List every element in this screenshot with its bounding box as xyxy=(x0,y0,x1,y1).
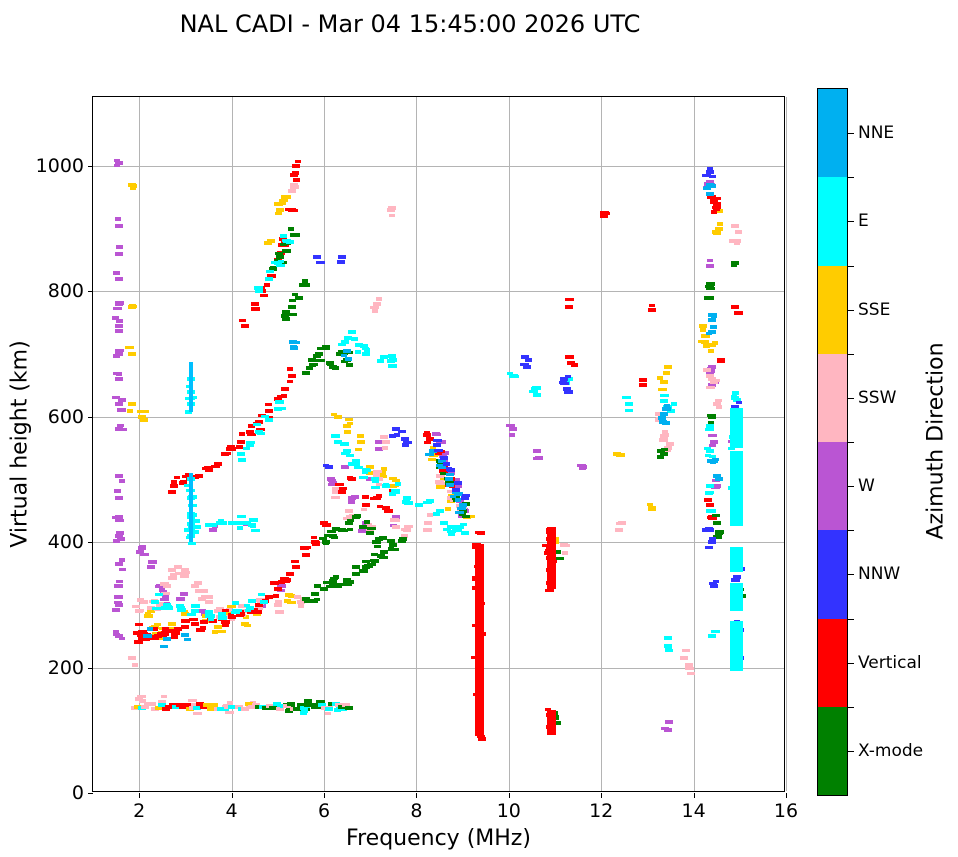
echo-point xyxy=(705,527,713,530)
echo-point xyxy=(443,462,450,466)
echo-point xyxy=(114,584,121,588)
echo-point xyxy=(119,568,126,571)
echo-point xyxy=(428,458,436,461)
echo-point xyxy=(251,307,260,311)
echo-point xyxy=(222,624,229,627)
echo-point xyxy=(393,548,399,551)
echo-point xyxy=(533,449,541,453)
echo-point xyxy=(389,214,395,217)
echo-point xyxy=(180,574,189,578)
echo-point xyxy=(703,368,711,372)
echo-point xyxy=(316,261,325,264)
echo-point xyxy=(115,252,123,256)
echo-point xyxy=(347,476,353,480)
ionogram-plot-area: 24681012141602004006008001000 xyxy=(92,96,785,792)
y-axis-tick-label: 400 xyxy=(48,531,84,553)
echo-point xyxy=(401,528,408,531)
echo-point xyxy=(293,178,300,182)
echo-point xyxy=(709,582,717,585)
echo-point xyxy=(115,324,123,328)
echo-point xyxy=(713,208,720,211)
echo-point xyxy=(730,451,743,457)
echo-point xyxy=(313,354,321,358)
echo-point xyxy=(533,393,541,397)
echo-point xyxy=(661,727,669,730)
echo-point xyxy=(372,309,378,313)
echo-point xyxy=(709,444,716,447)
echo-point xyxy=(295,160,301,163)
echo-point xyxy=(249,518,258,522)
echo-point xyxy=(457,507,466,510)
echo-point xyxy=(664,644,672,648)
echo-point xyxy=(251,529,260,532)
echo-point xyxy=(331,496,340,499)
echo-point xyxy=(344,336,352,340)
echo-point xyxy=(531,387,539,390)
colorbar-label-e: E xyxy=(858,211,869,231)
x-axis-tick xyxy=(601,793,602,798)
echo-point xyxy=(547,527,556,533)
y-axis-tick xyxy=(88,542,93,543)
echo-point xyxy=(380,435,388,439)
echo-point xyxy=(253,423,261,426)
echo-point xyxy=(209,528,217,532)
echo-point xyxy=(424,521,432,525)
echo-point xyxy=(436,464,443,467)
echo-point xyxy=(640,383,647,386)
echo-point xyxy=(616,522,622,525)
echo-point xyxy=(282,195,291,199)
echo-point xyxy=(189,618,198,621)
x-axis-tick xyxy=(509,793,510,798)
echo-point xyxy=(180,592,188,596)
echo-point xyxy=(389,434,396,438)
echo-point xyxy=(341,354,347,357)
echo-point xyxy=(664,636,672,640)
echo-point xyxy=(332,366,339,370)
echo-point xyxy=(362,352,370,356)
echo-point xyxy=(666,442,674,446)
echo-point xyxy=(446,473,454,476)
colorbar-title: Azimuth Direction xyxy=(924,342,949,539)
echo-point xyxy=(712,341,718,345)
echo-point xyxy=(256,610,262,614)
echo-point xyxy=(647,503,653,506)
echo-point xyxy=(388,206,396,210)
echo-point xyxy=(113,307,122,310)
echo-point xyxy=(337,260,345,264)
echo-scatter-layer xyxy=(93,97,784,791)
x-axis-tick-label: 12 xyxy=(589,800,613,822)
echo-point xyxy=(698,340,705,343)
echo-point xyxy=(117,408,126,412)
echo-point xyxy=(115,474,123,478)
echo-point xyxy=(361,508,367,511)
echo-point xyxy=(565,305,573,309)
echo-point xyxy=(237,515,246,518)
echo-point xyxy=(462,494,470,497)
echo-point xyxy=(648,308,656,312)
echo-point xyxy=(137,598,144,602)
echo-point xyxy=(660,380,668,384)
echo-point xyxy=(326,585,335,588)
echo-point xyxy=(717,222,723,226)
echo-point xyxy=(291,560,299,563)
echo-point xyxy=(455,498,461,502)
echo-point xyxy=(639,378,647,382)
y-axis-tick-label: 200 xyxy=(48,657,84,679)
echo-point xyxy=(382,446,388,450)
echo-point xyxy=(247,611,256,614)
colorbar-label-sse: SSE xyxy=(858,300,890,320)
echo-point xyxy=(415,503,423,507)
echo-point xyxy=(292,565,300,569)
echo-point xyxy=(117,537,125,541)
echo-point xyxy=(245,609,251,612)
echo-point xyxy=(338,343,346,346)
echo-point xyxy=(232,601,239,605)
echo-point xyxy=(535,456,543,460)
echo-point xyxy=(433,439,442,442)
echo-point xyxy=(227,445,235,449)
echo-point xyxy=(427,513,433,517)
echo-point xyxy=(706,264,714,268)
echo-point xyxy=(345,509,353,513)
echo-point xyxy=(648,508,656,511)
echo-point xyxy=(736,401,742,404)
echo-point xyxy=(236,445,243,449)
echo-point xyxy=(710,460,716,464)
echo-point xyxy=(115,402,123,406)
echo-point xyxy=(560,380,566,384)
echo-point xyxy=(308,358,316,362)
echo-point xyxy=(128,402,136,406)
echo-point xyxy=(286,572,294,576)
colorbar-label-nnw: NNW xyxy=(858,564,900,584)
echo-point xyxy=(181,625,189,629)
echo-point xyxy=(665,720,673,724)
echo-point xyxy=(529,390,538,393)
echo-point xyxy=(454,481,462,485)
colorbar-label-vertical: Vertical xyxy=(858,653,922,673)
echo-point xyxy=(455,511,464,514)
echo-point xyxy=(255,289,263,293)
echo-point xyxy=(525,358,532,362)
echo-point xyxy=(195,589,204,593)
echo-point xyxy=(116,245,123,249)
echo-point xyxy=(115,301,124,305)
echo-point xyxy=(273,594,279,598)
echo-point xyxy=(282,249,289,252)
echo-point xyxy=(730,408,743,414)
echo-point xyxy=(291,233,300,237)
echo-point xyxy=(440,472,446,475)
echo-point xyxy=(556,557,564,560)
echo-point xyxy=(281,394,287,398)
echo-point xyxy=(564,544,570,547)
x-axis-tick xyxy=(694,793,695,798)
echo-point xyxy=(214,625,222,629)
echo-point xyxy=(509,427,517,431)
echo-point xyxy=(661,448,668,451)
echo-point xyxy=(649,304,655,307)
echo-point xyxy=(387,539,395,543)
echo-point xyxy=(161,695,167,698)
echo-point xyxy=(290,183,298,186)
echo-point xyxy=(130,186,136,190)
echo-point xyxy=(115,377,123,381)
echo-point xyxy=(735,230,742,234)
echo-point xyxy=(202,467,210,470)
echo-point xyxy=(289,340,297,344)
echo-point xyxy=(707,259,713,262)
echo-point xyxy=(331,413,337,416)
colorbar-tick xyxy=(848,221,854,222)
echo-point xyxy=(298,604,304,608)
echo-point xyxy=(286,240,294,244)
echo-point xyxy=(367,527,376,530)
echo-point xyxy=(436,485,445,489)
echo-point xyxy=(708,318,716,322)
echo-point xyxy=(345,357,352,361)
chart-title: NAL CADI - Mar 04 15:45:00 2026 UTC xyxy=(0,10,820,38)
echo-point xyxy=(351,495,359,498)
echo-point xyxy=(276,264,285,267)
echo-point xyxy=(433,512,440,516)
echo-point xyxy=(403,441,412,444)
echo-point xyxy=(389,492,396,496)
echo-point xyxy=(346,363,353,367)
x-axis-tick-label: 2 xyxy=(133,800,145,822)
echo-point xyxy=(364,348,370,352)
echo-point xyxy=(112,608,120,612)
echo-point xyxy=(712,514,720,517)
echo-point xyxy=(340,442,349,446)
echo-point xyxy=(364,520,370,524)
echo-point xyxy=(168,490,176,494)
echo-point xyxy=(311,592,319,596)
echo-point xyxy=(341,360,348,363)
echo-point xyxy=(128,656,136,660)
echo-point xyxy=(506,424,515,427)
echo-point xyxy=(370,559,377,562)
echo-point xyxy=(140,410,149,413)
colorbar-boundary-tick xyxy=(848,707,854,708)
echo-point xyxy=(395,482,401,486)
echo-point xyxy=(338,490,346,494)
echo-point xyxy=(423,528,432,532)
colorbar-tick xyxy=(848,398,854,399)
colorbar-segment-w xyxy=(818,442,847,530)
x-axis-tick-label: 16 xyxy=(774,800,798,822)
echo-point xyxy=(370,497,378,500)
echo-point xyxy=(424,441,431,444)
echo-point xyxy=(705,546,713,549)
echo-point xyxy=(354,514,361,518)
echo-point xyxy=(461,531,469,535)
azimuth-colorbar: NNEESSESSWWNNWVerticalX-mode xyxy=(817,88,848,796)
colorbar-boundary-tick xyxy=(848,354,854,355)
echo-point xyxy=(248,599,256,603)
echo-point xyxy=(446,483,454,487)
echo-point xyxy=(392,525,400,529)
echo-point xyxy=(316,359,325,362)
echo-point xyxy=(119,479,125,483)
echo-point xyxy=(423,433,431,437)
echo-point xyxy=(116,580,123,583)
echo-point xyxy=(523,365,531,369)
echo-point xyxy=(731,578,740,582)
echo-point xyxy=(706,287,715,290)
echo-point xyxy=(685,663,693,667)
echo-point xyxy=(251,302,259,306)
colorbar-tick xyxy=(848,133,854,134)
echo-point xyxy=(217,630,226,633)
echo-point xyxy=(147,565,154,568)
echo-point xyxy=(600,211,609,214)
echo-point xyxy=(290,345,297,348)
echo-point xyxy=(279,201,286,205)
echo-point xyxy=(377,554,385,558)
y-axis-tick-label: 600 xyxy=(48,406,84,428)
echo-point xyxy=(170,484,178,488)
echo-point xyxy=(237,526,243,530)
echo-point xyxy=(331,536,338,539)
x-axis-tick xyxy=(232,793,233,798)
echo-point xyxy=(715,399,722,402)
echo-point xyxy=(339,487,347,490)
echo-point xyxy=(708,349,714,353)
echo-point xyxy=(260,294,268,297)
echo-point xyxy=(163,637,171,641)
echo-point xyxy=(188,542,196,545)
echo-point xyxy=(143,634,149,638)
echo-point xyxy=(119,558,125,562)
echo-point xyxy=(140,553,149,556)
echo-point xyxy=(171,636,178,639)
echo-point xyxy=(372,479,379,483)
echo-point xyxy=(462,515,470,518)
echo-point xyxy=(145,612,151,616)
echo-point xyxy=(731,395,737,398)
x-axis-title: Frequency (MHz) xyxy=(92,826,785,851)
echo-point xyxy=(115,224,123,228)
echo-point xyxy=(244,604,250,607)
echo-point xyxy=(193,519,200,523)
echo-point xyxy=(292,164,300,168)
echo-point xyxy=(730,621,743,627)
echo-point xyxy=(176,604,184,608)
echo-point xyxy=(625,402,633,406)
echo-point xyxy=(665,648,672,651)
y-axis-tick xyxy=(88,668,93,669)
echo-point xyxy=(294,595,301,599)
gridline-vertical xyxy=(786,97,787,791)
echo-point xyxy=(115,349,124,352)
echo-point xyxy=(704,447,711,450)
echo-point xyxy=(345,418,353,421)
echo-point xyxy=(281,387,289,391)
x-axis-tick xyxy=(786,793,787,798)
echo-point xyxy=(115,562,123,566)
echo-point xyxy=(565,298,574,301)
echo-point xyxy=(732,391,739,395)
echo-point xyxy=(166,605,172,609)
echo-point xyxy=(241,324,249,328)
echo-point xyxy=(424,501,431,504)
echo-point xyxy=(115,217,121,221)
echo-point xyxy=(275,600,282,603)
echo-point xyxy=(274,603,282,607)
echo-point xyxy=(319,537,327,540)
echo-point xyxy=(715,477,723,481)
echo-point xyxy=(302,279,308,283)
echo-point xyxy=(275,610,284,614)
echo-point xyxy=(356,448,362,451)
echo-point xyxy=(705,454,711,457)
echo-point xyxy=(716,535,722,539)
echo-point xyxy=(292,293,298,296)
echo-point xyxy=(360,344,368,348)
echo-point xyxy=(711,630,720,633)
colorbar-tick xyxy=(848,663,854,664)
echo-point xyxy=(362,495,369,499)
echo-point xyxy=(160,645,168,648)
echo-point xyxy=(148,560,157,564)
echo-point xyxy=(243,447,250,450)
echo-point xyxy=(445,507,451,511)
echo-point xyxy=(275,252,283,255)
echo-point xyxy=(115,496,123,500)
echo-point xyxy=(205,600,213,604)
echo-point xyxy=(348,330,356,334)
echo-point xyxy=(359,525,367,529)
echo-point xyxy=(731,224,739,228)
echo-point xyxy=(266,270,274,273)
echo-point xyxy=(280,234,287,238)
echo-point xyxy=(282,317,290,321)
echo-point xyxy=(712,230,719,234)
echo-point xyxy=(114,159,120,162)
echo-point xyxy=(680,656,688,660)
echo-point xyxy=(730,547,743,553)
echo-point xyxy=(168,576,177,580)
echo-point xyxy=(699,324,707,328)
echo-point xyxy=(664,404,670,408)
echo-point xyxy=(257,432,265,435)
echo-point xyxy=(404,501,413,505)
echo-point xyxy=(250,525,256,528)
echo-point xyxy=(171,480,177,484)
echo-point xyxy=(347,528,353,531)
echo-point xyxy=(374,545,381,548)
echo-point xyxy=(564,390,573,394)
echo-point xyxy=(398,539,406,543)
echo-point xyxy=(198,628,204,631)
echo-point xyxy=(200,620,208,624)
echo-point xyxy=(302,371,310,375)
y-axis-title-wrap: Virtual height (km) xyxy=(26,0,27,857)
echo-point xyxy=(475,531,484,534)
echo-point xyxy=(706,386,715,389)
echo-point xyxy=(135,623,143,626)
echo-point xyxy=(258,593,265,596)
echo-point xyxy=(176,597,185,601)
y-axis-tick-label: 1000 xyxy=(36,155,84,177)
echo-point xyxy=(244,624,251,627)
echo-point xyxy=(708,425,714,429)
echo-point xyxy=(288,374,296,378)
